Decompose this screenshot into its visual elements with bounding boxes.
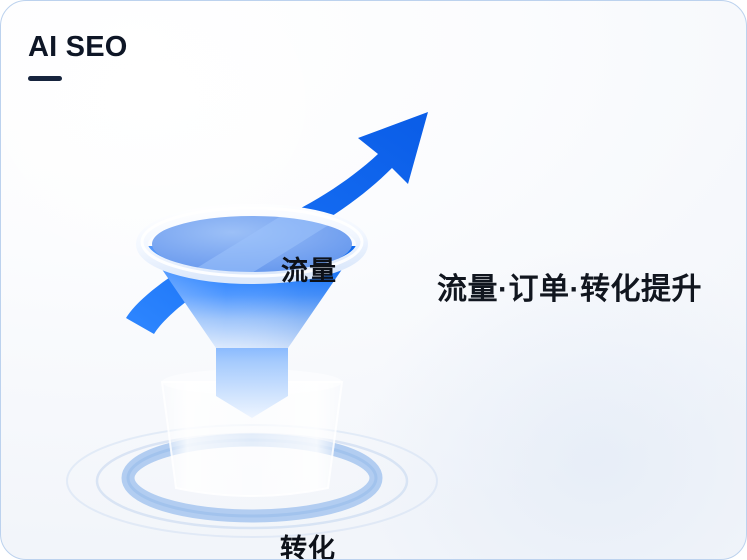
headline-text: 流量·订单·转化提升 xyxy=(437,273,702,306)
conversion-funnel-illustration: 流量 转化 xyxy=(56,96,456,541)
seo-funnel-card: AI SEO 流量·订单·转化提升 xyxy=(0,0,747,560)
title-underline-accent xyxy=(28,76,62,81)
funnel-label-conversion: 转化 xyxy=(280,527,336,560)
page-title: AI SEO xyxy=(28,33,128,62)
title-block: AI SEO xyxy=(28,33,128,81)
funnel-label-traffic: 流量 xyxy=(281,249,337,288)
